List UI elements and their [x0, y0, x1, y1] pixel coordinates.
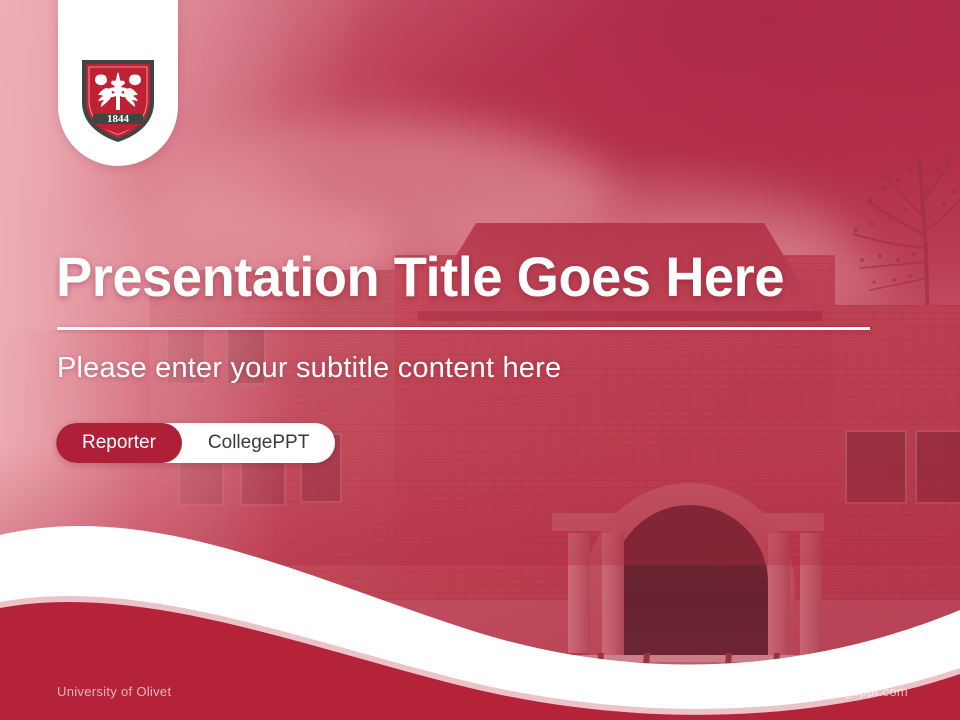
university-of-olivet-crest-icon: 1844: [76, 54, 160, 146]
title-divider-rule: [57, 327, 870, 330]
reporter-name: CollegePPT: [182, 423, 335, 463]
reporter-label: Reporter: [56, 423, 182, 463]
university-logo-badge: 1844: [58, 0, 178, 166]
roof-ridge: [418, 311, 822, 321]
footer-website[interactable]: www.collegeppt.com: [784, 684, 908, 699]
presentation-slide: 1844 Presentation Title Goes Here Please…: [0, 0, 960, 720]
reporter-badge[interactable]: Reporter CollegePPT: [56, 423, 335, 463]
footer-organization: University of Olivet: [57, 684, 171, 699]
crest-founded-year: 1844: [107, 113, 130, 125]
slide-subtitle: Please enter your subtitle content here: [57, 352, 561, 385]
slide-title: Presentation Title Goes Here: [56, 248, 890, 307]
